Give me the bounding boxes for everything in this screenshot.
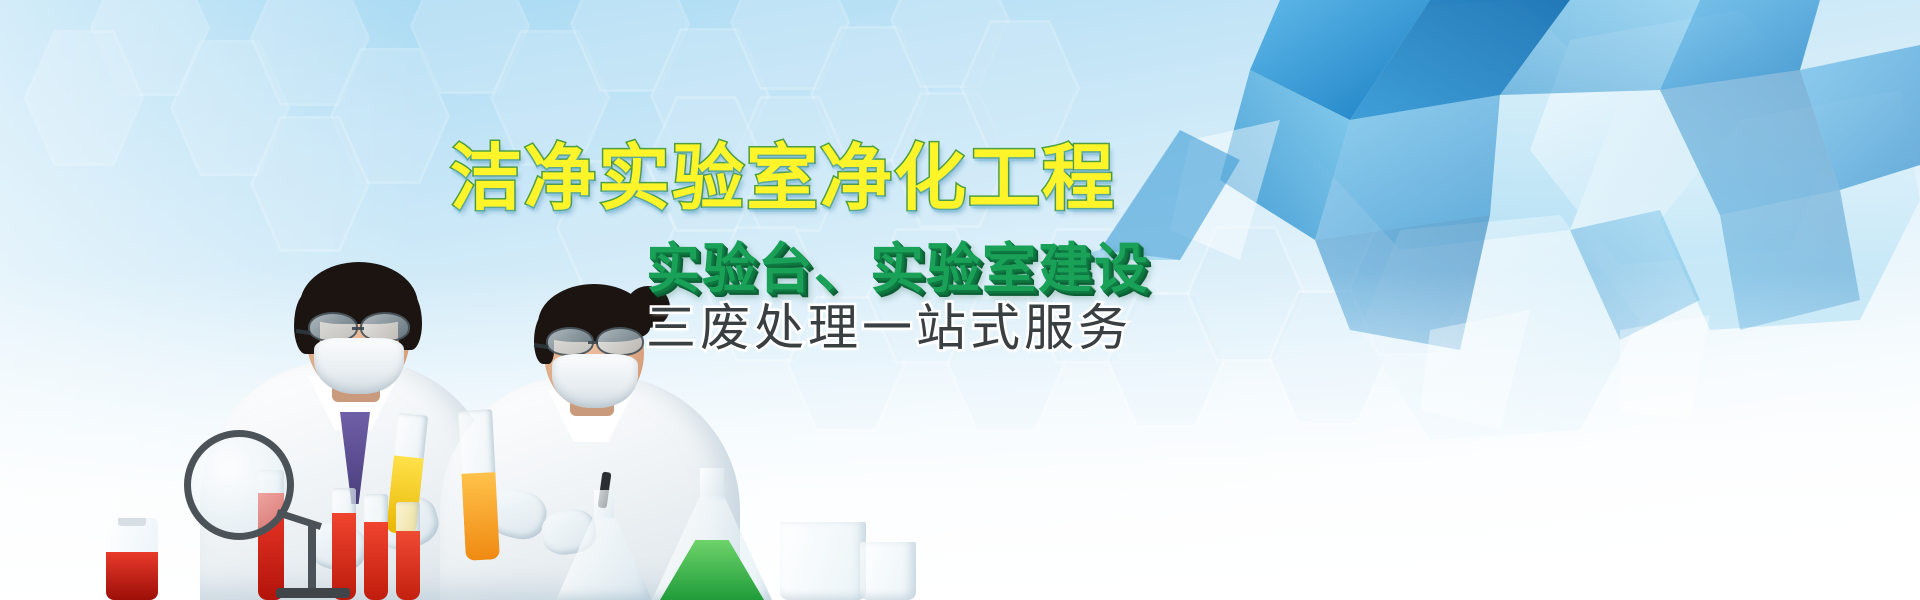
subtitle-primary: 实验台、实验室建设 xyxy=(646,242,1150,296)
promo-banner: 洁净实验室净化工程 实验台、实验室建设 三废处理一站式服务 xyxy=(0,0,1920,600)
page-title: 洁净实验室净化工程 xyxy=(450,143,1116,215)
subtitle-secondary: 三废处理一站式服务 xyxy=(646,303,1132,353)
headline-block: 洁净实验室净化工程 实验台、实验室建设 三废处理一站式服务 xyxy=(0,0,1920,600)
